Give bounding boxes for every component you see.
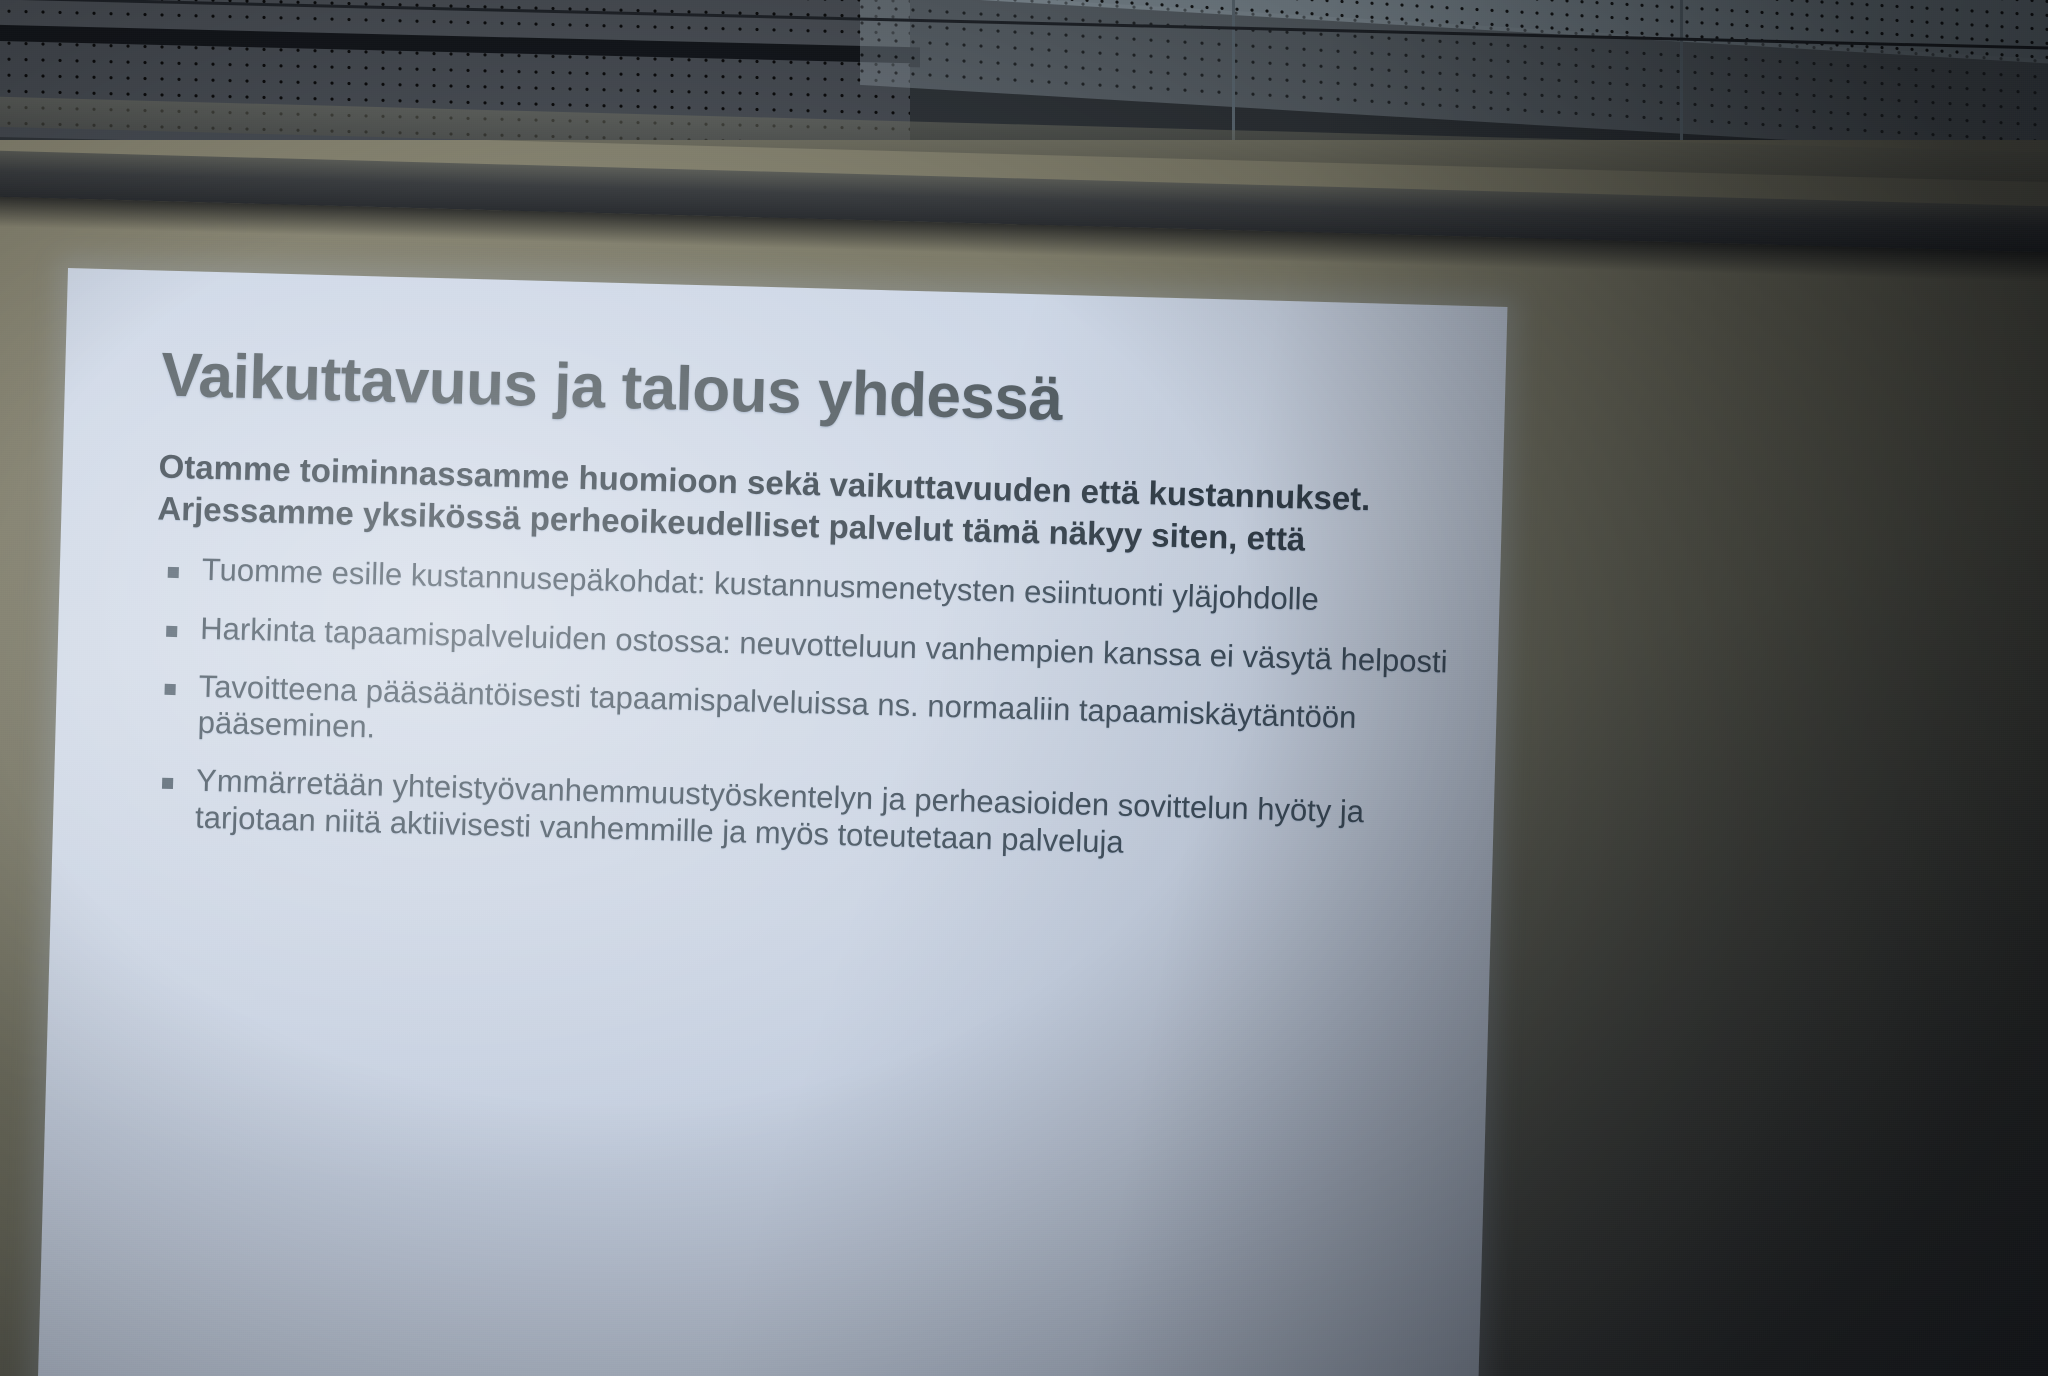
photo-scene: Vaikuttavuus ja talous yhdessä Otamme to…	[0, 0, 2048, 1376]
logo-line-1: Etelä-Pohjanmaan	[129, 1372, 385, 1376]
list-item-text: Tuomme esille kustannusepäkohdat: kustan…	[201, 552, 1319, 617]
list-item: Tuomme esille kustannusepäkohdat: kustan…	[155, 551, 1456, 622]
list-item: Tavoitteena pääsääntöisesti tapaamispalv…	[151, 667, 1452, 775]
slide-content: Vaikuttavuus ja talous yhdessä Otamme to…	[148, 343, 1461, 892]
slide: Vaikuttavuus ja talous yhdessä Otamme to…	[37, 268, 1508, 1376]
square-bullet-icon	[168, 567, 179, 578]
logo-text: Etelä-Pohjanmaan hyvinvointialue	[128, 1372, 385, 1376]
projection-screen: Vaikuttavuus ja talous yhdessä Otamme to…	[37, 268, 1508, 1376]
ceiling-grid-line-1	[1232, 0, 1235, 150]
square-bullet-icon	[164, 684, 175, 695]
slide-bullet-list: Tuomme esille kustannusepäkohdat: kustan…	[149, 551, 1456, 870]
list-item-text: Ymmärretään yhteistyövanhemmuustyöskente…	[195, 763, 1365, 859]
slide-title: Vaikuttavuus ja talous yhdessä	[160, 343, 1461, 443]
list-item: Ymmärretään yhteistyövanhemmuustyöskente…	[149, 762, 1450, 870]
list-item-text: Harkinta tapaamispalveluiden ostossa: ne…	[200, 610, 1448, 679]
square-bullet-icon	[166, 625, 177, 636]
list-item-text: Tavoitteena pääsääntöisesti tapaamispalv…	[197, 668, 1357, 744]
ceiling-grid-line-2	[1680, 0, 1683, 150]
slide-lead-paragraph: Otamme toiminnassamme huomioon sekä vaik…	[157, 446, 1429, 563]
square-bullet-icon	[162, 778, 173, 789]
list-item: Harkinta tapaamispalveluiden ostossa: ne…	[154, 609, 1455, 680]
organisation-logo: Etelä-Pohjanmaan hyvinvointialue	[54, 1370, 385, 1376]
